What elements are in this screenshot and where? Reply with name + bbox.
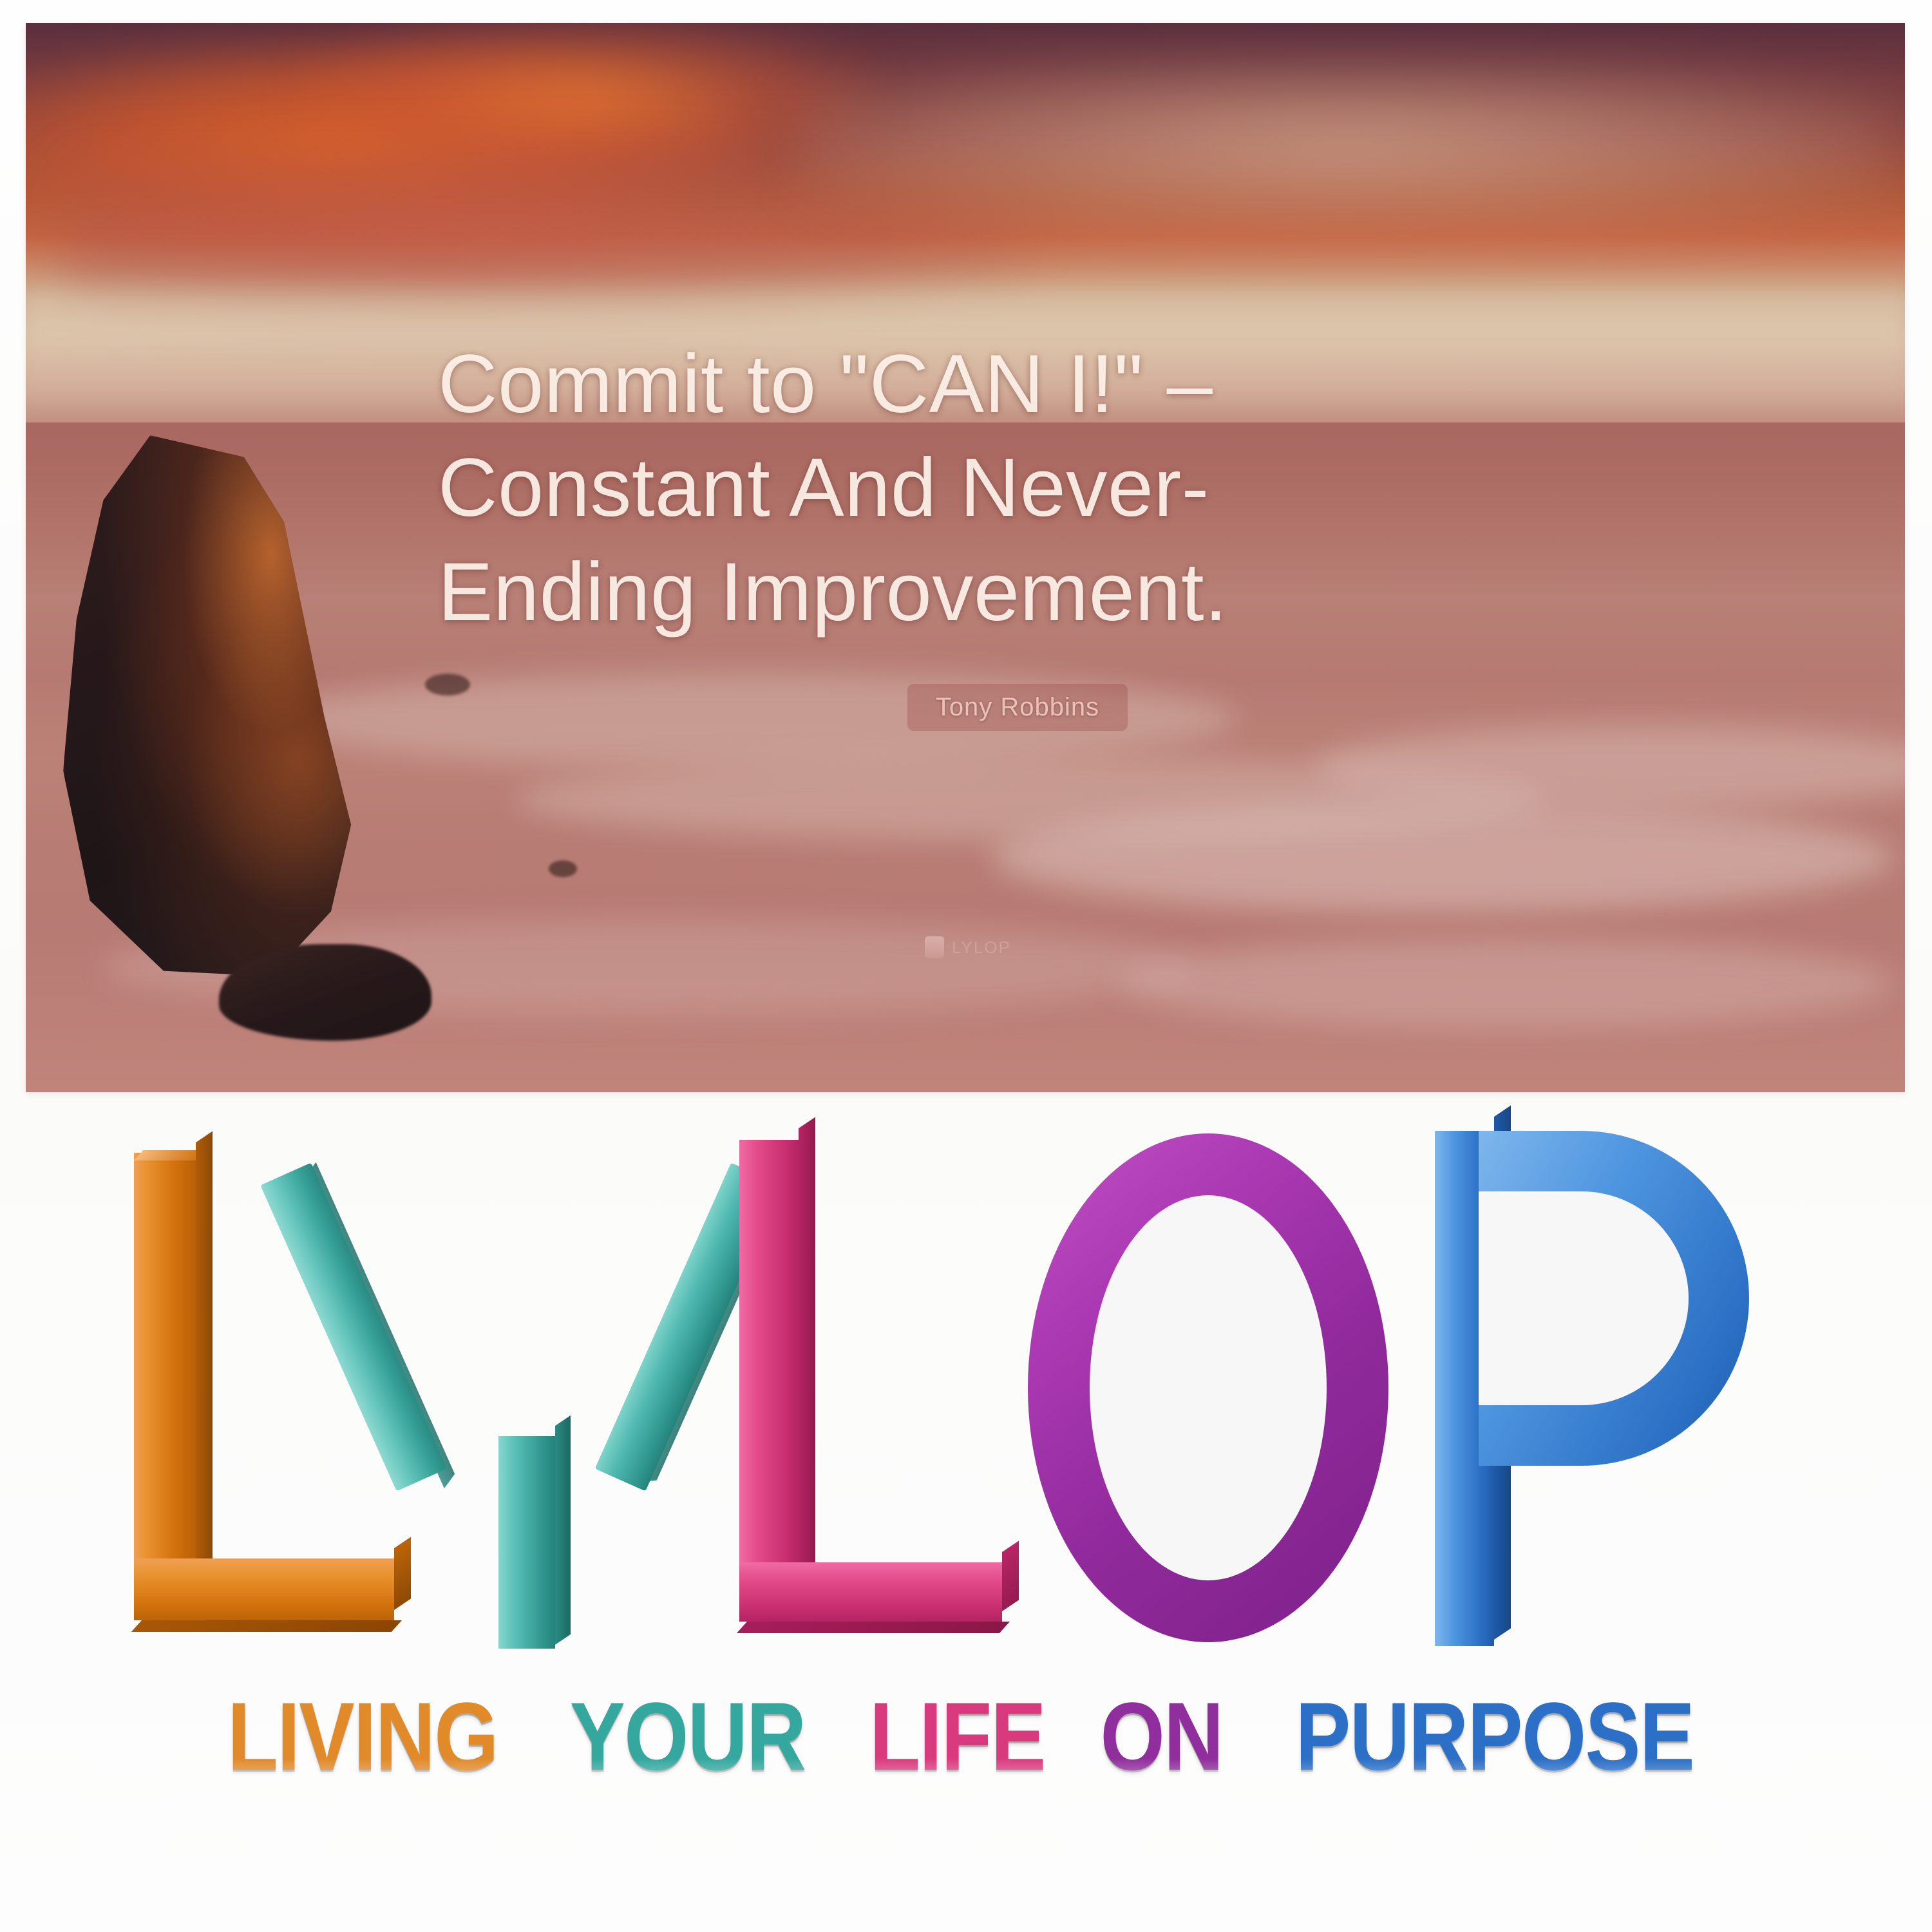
lylop-wordmark	[122, 1114, 1829, 1681]
letter-extrusion	[737, 1622, 1010, 1633]
watermark-label: LYLOP	[952, 938, 1011, 958]
letter-stroke	[134, 1558, 394, 1620]
letter-stroke	[739, 1140, 799, 1595]
lylop-logo[interactable]: LIVING YOUR LIFE ON PURPOSE	[0, 1114, 1932, 1810]
letter-stroke	[134, 1153, 196, 1591]
poster-card: Commit to "CAN I!" – Constant And Never-…	[0, 0, 1932, 1932]
letter-o-purple	[1011, 1127, 1436, 1655]
letter-extrusion	[555, 1416, 571, 1645]
quote-line-1: Commit to "CAN I!" –	[438, 332, 1597, 436]
quote-line-2: Constant And Never-	[438, 436, 1597, 540]
letter-p-blue	[1417, 1127, 1829, 1662]
attribution-badge[interactable]: Tony Robbins	[907, 684, 1128, 731]
letter-y-teal	[380, 1140, 766, 1649]
quote-block: Commit to "CAN I!" – Constant And Never-…	[438, 332, 1597, 731]
photo-watermark: LYLOP	[925, 936, 1011, 958]
letter-stroke	[498, 1436, 555, 1649]
logo-reflection-fade	[0, 1758, 1932, 1835]
letter-stroke	[1028, 1133, 1388, 1642]
letter-extrusion	[196, 1131, 213, 1587]
letter-extrusion	[131, 1620, 402, 1632]
letter-bevel	[134, 1150, 205, 1160]
letter-stroke	[739, 1562, 1002, 1622]
attribution-row: Tony Robbins	[438, 684, 1597, 731]
letter-l-pink	[728, 1140, 1037, 1642]
letter-stroke	[1479, 1131, 1749, 1466]
quote-line-3: Ending Improvement.	[438, 540, 1597, 644]
letter-extrusion	[799, 1117, 815, 1589]
watermark-mark-icon	[925, 936, 944, 958]
hero-quote-image[interactable]: Commit to "CAN I!" – Constant And Never-…	[26, 23, 1905, 1092]
